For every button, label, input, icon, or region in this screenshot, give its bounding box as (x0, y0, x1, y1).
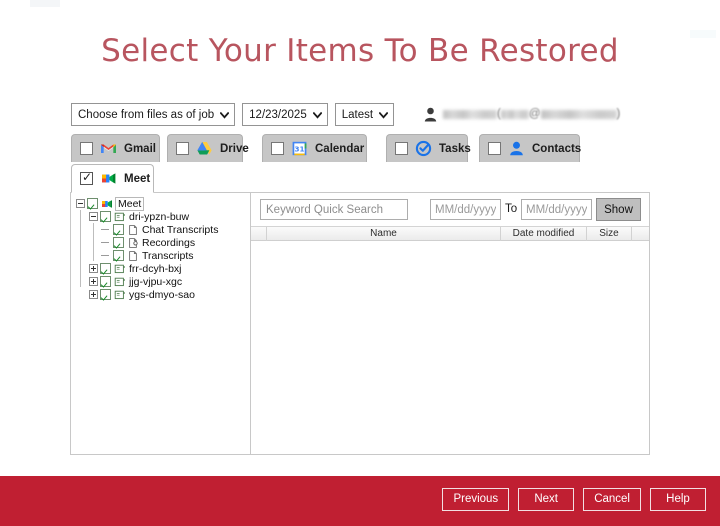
tab-meet-checkbox[interactable]: ✓ (80, 172, 93, 185)
show-button[interactable]: Show (596, 198, 641, 221)
search-input[interactable] (260, 199, 408, 220)
source-selector-row: Choose from files as of job 12/23/2025 L… (71, 103, 401, 126)
tree-node-meet-checkbox[interactable] (87, 198, 98, 209)
tree-leaf-connector-icon (101, 250, 112, 261)
job-date-value: 12/23/2025 (249, 109, 307, 121)
tab-meet[interactable]: ✓ Meet (71, 164, 154, 193)
tree-node-recordings-checkbox[interactable] (113, 237, 124, 248)
google-meet-icon (101, 198, 113, 210)
tab-drive-label: Drive (220, 143, 249, 155)
tree-node-chat-transcripts-checkbox[interactable] (113, 224, 124, 235)
tree-node-jjg-vjpu-xgc-checkbox[interactable] (100, 276, 111, 287)
meeting-folder-icon (114, 211, 126, 223)
tab-drive[interactable]: Drive (167, 134, 243, 162)
footer-button-group: Previous Next Cancel Help (442, 488, 706, 511)
tree-node-dri-ypzn-buw-label: dri-ypzn-buw (129, 211, 189, 223)
google-contacts-icon (508, 140, 525, 157)
person-icon (424, 107, 437, 122)
meeting-folder-icon (114, 263, 126, 275)
tab-drive-checkbox[interactable] (176, 142, 189, 155)
tree-node-frr-dcyh-bxj-label: frr-dcyh-bxj (129, 263, 182, 275)
column-header-spacer[interactable] (251, 227, 267, 241)
gmail-icon (100, 140, 117, 157)
tree-node-ygs-dmyo-sao-checkbox[interactable] (100, 289, 111, 300)
date-from-input[interactable] (430, 199, 501, 220)
account-domain-redacted (541, 110, 617, 119)
job-source-value: Choose from files as of job (78, 109, 214, 121)
tab-calendar-label: Calendar (315, 143, 364, 155)
tree-node-jjg-vjpu-xgc[interactable]: jjg-vjpu-xgc (75, 275, 250, 288)
expand-toggle-icon[interactable] (88, 263, 99, 274)
svg-text:31: 31 (294, 145, 304, 154)
job-source-select[interactable]: Choose from files as of job (71, 103, 235, 126)
column-header-end[interactable] (632, 227, 650, 241)
job-version-select[interactable]: Latest (335, 103, 394, 126)
tree-node-transcripts-checkbox[interactable] (113, 250, 124, 261)
tab-contacts-checkbox[interactable] (488, 142, 501, 155)
tree-guide-line (80, 210, 81, 287)
file-list-panel: To Show Name Date modified Size (251, 192, 650, 455)
chevron-down-icon (379, 110, 388, 119)
date-range-to-label: To (505, 203, 517, 215)
tab-gmail[interactable]: Gmail (71, 134, 160, 162)
tree-node-meet-label: Meet (115, 197, 144, 211)
tree-node-chat-transcripts-label: Chat Transcripts (142, 224, 218, 236)
tree-node-transcripts[interactable]: Transcripts (75, 249, 250, 262)
tree-leaf-connector-icon (101, 224, 112, 235)
document-icon (127, 250, 139, 262)
tree-node-recordings-label: Recordings (142, 237, 195, 249)
document-icon (127, 224, 139, 236)
restore-wizard-window: Select Your Items To Be Restored Choose … (0, 0, 720, 526)
tab-contacts[interactable]: Contacts (479, 134, 580, 162)
account-local-redacted (501, 110, 529, 119)
tree-node-dri-ypzn-buw-checkbox[interactable] (100, 211, 111, 222)
top-edge-artifact (30, 0, 60, 7)
chevron-down-icon (313, 110, 322, 119)
tree-node-transcripts-label: Transcripts (142, 250, 194, 262)
help-button[interactable]: Help (650, 488, 706, 511)
meeting-folder-icon (114, 276, 126, 288)
tree-node-ygs-dmyo-sao-label: ygs-dmyo-sao (129, 289, 195, 301)
google-meet-icon (100, 170, 117, 187)
tree-leaf-connector-icon (101, 237, 112, 248)
tab-gmail-label: Gmail (124, 143, 156, 155)
tree-node-frr-dcyh-bxj[interactable]: frr-dcyh-bxj (75, 262, 250, 275)
account-at-symbol: @ (529, 108, 541, 120)
tab-tasks-label: Tasks (439, 143, 471, 155)
wizard-footer: Previous Next Cancel Help (0, 476, 720, 526)
google-drive-icon (196, 140, 213, 157)
previous-button[interactable]: Previous (442, 488, 509, 511)
tree-node-recordings[interactable]: Recordings (75, 236, 250, 249)
expand-toggle-icon[interactable] (88, 289, 99, 300)
checkmark-icon: ✓ (82, 171, 92, 184)
meeting-folder-icon (114, 289, 126, 301)
tab-calendar-checkbox[interactable] (271, 142, 284, 155)
tree-node-ygs-dmyo-sao[interactable]: ygs-dmyo-sao (75, 288, 250, 301)
folder-tree: Meet dri-ypzn-buw (71, 193, 250, 301)
page-title: Select Your Items To Be Restored (0, 33, 720, 69)
tab-meet-label: Meet (124, 173, 150, 185)
column-header-name[interactable]: Name (267, 227, 501, 241)
tab-calendar[interactable]: 31 Calendar (262, 134, 367, 162)
tree-node-frr-dcyh-bxj-checkbox[interactable] (100, 263, 111, 274)
recording-icon (127, 237, 139, 249)
job-date-select[interactable]: 12/23/2025 (242, 103, 328, 126)
job-version-value: Latest (342, 109, 373, 121)
column-header-size[interactable]: Size (587, 227, 632, 241)
tab-tasks-checkbox[interactable] (395, 142, 408, 155)
date-to-input[interactable] (521, 199, 592, 220)
tree-guide-line (93, 223, 94, 261)
service-tab-strip: Gmail Drive (71, 134, 651, 164)
account-paren-close: ) (617, 108, 621, 120)
tree-node-chat-transcripts[interactable]: Chat Transcripts (75, 223, 250, 236)
chevron-down-icon (220, 110, 229, 119)
tab-tasks[interactable]: Tasks (386, 134, 468, 162)
google-calendar-icon: 31 (291, 140, 308, 157)
collapse-toggle-icon[interactable] (75, 198, 86, 209)
google-tasks-icon (415, 140, 432, 157)
account-name-redacted (443, 110, 497, 119)
tab-contacts-label: Contacts (532, 143, 581, 155)
collapse-toggle-icon[interactable] (88, 211, 99, 222)
tree-node-jjg-vjpu-xgc-label: jjg-vjpu-xgc (129, 276, 182, 288)
tab-gmail-checkbox[interactable] (80, 142, 93, 155)
search-toolbar: To Show (251, 193, 650, 226)
expand-toggle-icon[interactable] (88, 276, 99, 287)
tree-node-dri-ypzn-buw[interactable]: dri-ypzn-buw (75, 210, 250, 223)
cancel-button[interactable]: Cancel (583, 488, 641, 511)
column-header-date-modified[interactable]: Date modified (501, 227, 587, 241)
folder-tree-panel[interactable]: Meet dri-ypzn-buw (70, 192, 251, 455)
next-button[interactable]: Next (518, 488, 574, 511)
file-list-body[interactable] (251, 242, 650, 455)
file-list-column-header: Name Date modified Size (251, 226, 650, 241)
tree-node-meet[interactable]: Meet (75, 197, 250, 210)
account-info: ( @ ) (424, 105, 620, 123)
